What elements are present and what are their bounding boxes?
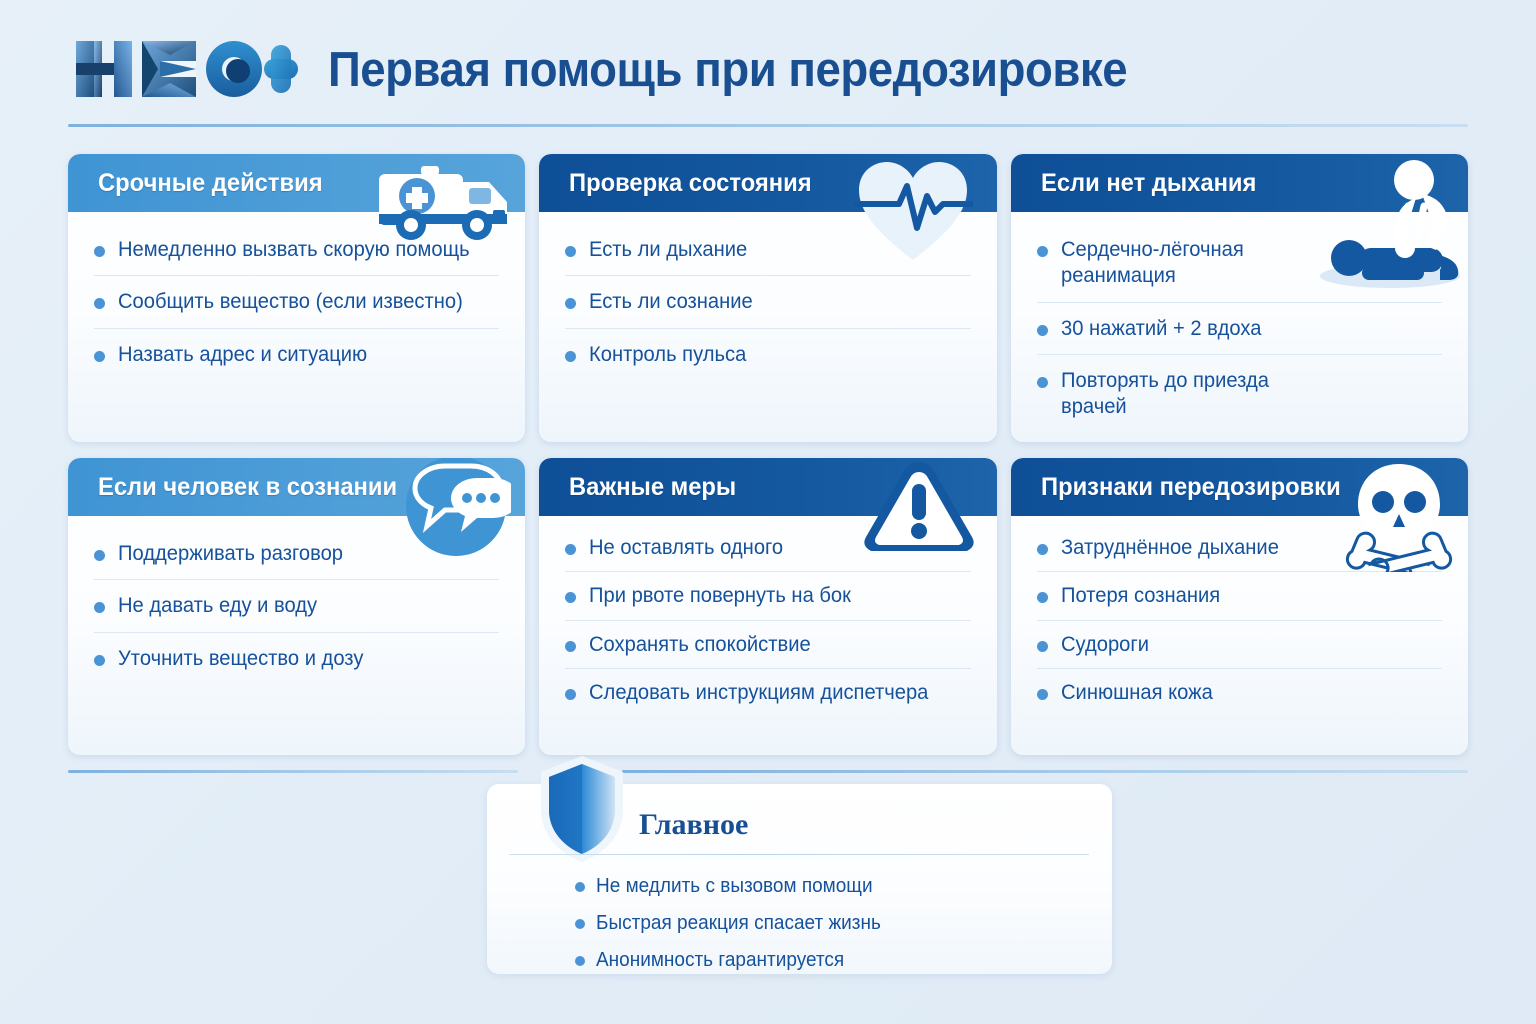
bullet-icon [565,246,576,257]
bullet-icon [565,689,576,700]
bullet-icon [94,246,105,257]
bullet-icon [565,351,576,362]
list-item[interactable]: Сохранять спокойствие [565,620,970,668]
infographic-page: Первая помощь при передозировке Срочные … [0,0,1536,1024]
footer-divider-right [622,770,1468,773]
page-header: Первая помощь при передозировке [0,0,1536,132]
card-header: Если человек в сознании [68,458,525,516]
list-item-text: Сохранять спокойствие [589,632,811,658]
bullet-icon [1037,641,1048,652]
list-item-text: Есть ли сознание [589,289,753,315]
card-grid: Срочные действия [68,154,1468,755]
card-header: Если нет дыхания [1011,154,1468,212]
bullet-icon [94,298,105,309]
list-item-text: При рвоте повернуть на бок [589,583,851,609]
list-item[interactable]: Потеря сознания [1037,571,1442,619]
card-title: Если человек в сознании [98,473,397,502]
card-body: Сердечно-лёгочная реанимация 30 нажатий … [1011,212,1468,432]
list-item[interactable]: Не давать еду и воду [94,579,499,631]
list-item-text: Уточнить вещество и дозу [118,646,363,672]
card-row-2: Если человек в сознании [68,458,1468,755]
list-item-text: Контроль пульса [589,342,746,368]
bullet-icon [575,956,585,966]
card-important-measures[interactable]: Важные меры Не оставлять одного [539,458,996,755]
card-body: Поддерживать разговор Не давать еду и во… [68,516,525,684]
list-item[interactable]: Судороги [1037,620,1442,668]
list-item-text: Сердечно-лёгочная реанимация [1061,237,1301,290]
card-title: Если нет дыхания [1041,169,1256,198]
bullet-icon [1037,246,1048,257]
list-item[interactable]: Сердечно-лёгочная реанимация [1037,224,1442,302]
summary-title: Главное [639,808,748,842]
list-item-text: Анонимность гарантируется [596,949,844,972]
card-header: Важные меры [539,458,996,516]
card-urgent-actions[interactable]: Срочные действия [68,154,525,442]
list-item[interactable]: Быстрая реакция спасает жизнь [575,905,896,942]
list-item-text: Потеря сознания [1061,583,1220,609]
bullet-icon [1037,325,1048,336]
list-item[interactable]: Контроль пульса [565,328,970,380]
list-item[interactable]: Сообщить вещество (если известно) [94,275,499,327]
bullet-icon [1037,544,1048,555]
card-title: Срочные действия [98,169,323,198]
card-body: Затруднённое дыхание Потеря сознания Суд… [1011,516,1468,716]
footer-divider-left [68,770,518,773]
bullet-icon [94,351,105,362]
list-item-text: Синюшная кожа [1061,680,1213,706]
list-item-text: Есть ли дыхание [589,237,747,263]
card-title: Признаки передозировки [1041,473,1341,502]
list-item[interactable]: 30 нажатий + 2 вдоха [1037,302,1442,354]
card-overdose-signs[interactable]: Признаки передозировки [1011,458,1468,755]
bullet-icon [565,641,576,652]
list-item[interactable]: Поддерживать разговор [94,528,499,579]
card-header: Срочные действия [68,154,525,212]
list-item-text: Не давать еду и воду [118,593,317,619]
card-body: Немедленно вызвать скорую помощь Сообщит… [68,212,525,380]
list-item[interactable]: Назвать адрес и ситуацию [94,328,499,380]
summary-panel[interactable]: Главное Не медлить с вызовом помощи Быст… [487,784,1112,974]
card-title: Проверка состояния [569,169,812,198]
neo-plus-logo [72,33,300,105]
card-title: Важные меры [569,473,736,502]
list-item[interactable]: Затруднённое дыхание [1037,524,1442,571]
list-item-text: Судороги [1061,632,1149,658]
list-item[interactable]: Уточнить вещество и дозу [94,632,499,684]
summary-list: Не медлить с вызовом помощи Быстрая реак… [575,868,896,979]
list-item[interactable]: Следовать инструкциям диспетчера [565,668,970,716]
bullet-icon [94,550,105,561]
page-title: Первая помощь при передозировке [328,42,1127,98]
list-item-text: Следовать инструкциям диспетчера [589,680,928,706]
card-no-breathing[interactable]: Если нет дыхания [1011,154,1468,442]
card-condition-check[interactable]: Проверка состояния Есть ли дыхание [539,154,996,442]
list-item[interactable]: Не медлить с вызовом помощи [575,868,896,905]
shield-icon [537,754,627,864]
card-header: Проверка состояния [539,154,996,212]
list-item-text: Немедленно вызвать скорую помощь [118,237,470,263]
card-body: Не оставлять одного При рвоте повернуть … [539,516,996,716]
list-item-text: Не оставлять одного [589,535,783,561]
bullet-icon [94,602,105,613]
list-item-text: Назвать адрес и ситуацию [118,342,367,368]
bullet-icon [1037,689,1048,700]
card-header: Признаки передозировки [1011,458,1468,516]
card-body: Есть ли дыхание Есть ли сознание Контрол… [539,212,996,380]
card-person-conscious[interactable]: Если человек в сознании [68,458,525,755]
list-item-text: Поддерживать разговор [118,541,343,567]
bullet-icon [575,882,585,892]
list-item[interactable]: Немедленно вызвать скорую помощь [94,224,499,275]
header-divider [68,124,1468,127]
card-row-1: Срочные действия [68,154,1468,442]
list-item[interactable]: Анонимность гарантируется [575,942,896,979]
list-item[interactable]: Есть ли дыхание [565,224,970,275]
bullet-icon [575,919,585,929]
bullet-icon [1037,377,1048,388]
bullet-icon [565,544,576,555]
list-item[interactable]: При рвоте повернуть на бок [565,571,970,619]
bullet-icon [565,298,576,309]
list-item[interactable]: Синюшная кожа [1037,668,1442,716]
list-item-text: Быстрая реакция спасает жизнь [596,912,881,935]
list-item[interactable]: Повторять до приезда врачей [1037,354,1442,433]
summary-divider [509,854,1089,855]
list-item-text: Сообщить вещество (если известно) [118,289,463,315]
list-item-text: Не медлить с вызовом помощи [596,875,873,898]
list-item[interactable]: Не оставлять одного [565,524,970,571]
bullet-icon [1037,592,1048,603]
bullet-icon [565,592,576,603]
list-item[interactable]: Есть ли сознание [565,275,970,327]
list-item-text: 30 нажатий + 2 вдоха [1061,316,1261,342]
list-item-text: Затруднённое дыхание [1061,535,1279,561]
list-item-text: Повторять до приезда врачей [1061,368,1301,421]
bullet-icon [94,655,105,666]
